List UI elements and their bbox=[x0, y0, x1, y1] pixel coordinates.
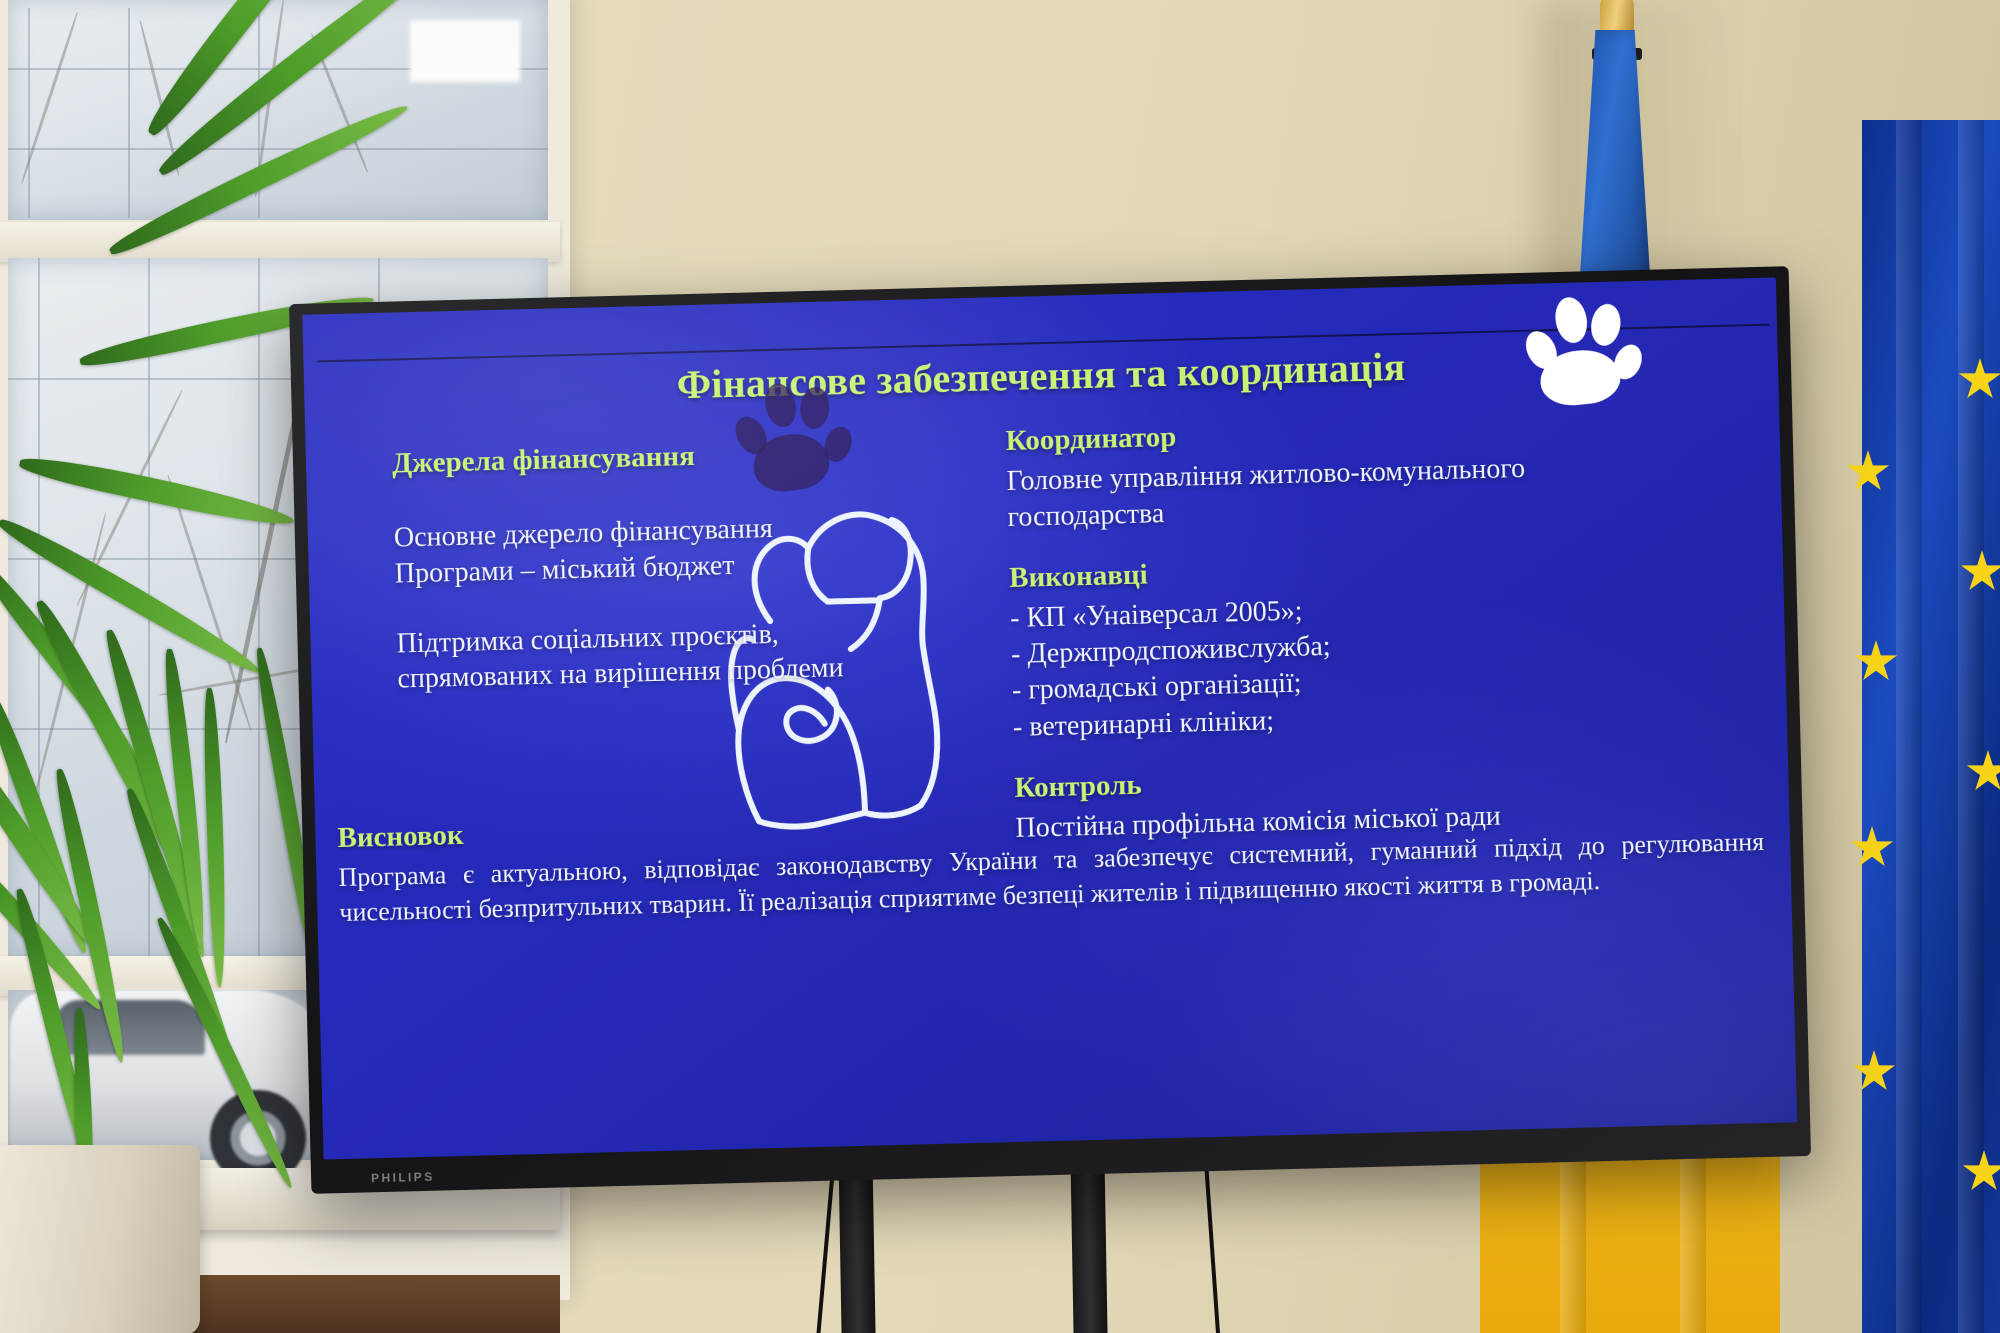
window-mullion bbox=[0, 222, 560, 262]
window-pane-top bbox=[8, 0, 548, 220]
paw-print-icon bbox=[1523, 292, 1637, 407]
tv-stand-leg-right bbox=[1070, 1150, 1107, 1333]
presentation-room-scene: Фінансове забезпечення та координація bbox=[0, 0, 2000, 1333]
funding-sources-paragraph-2: Підтримка соціальних проєктів, спрямован… bbox=[396, 614, 878, 698]
conclusion-section: Висновок Програма є актуальною, відповід… bbox=[337, 786, 1765, 930]
car-side-window bbox=[55, 1000, 205, 1055]
funding-sources-paragraph-1: Основне джерело фінансування Програми – … bbox=[393, 508, 875, 592]
brand-logo: PHILIPS bbox=[371, 1170, 435, 1186]
presentation-slide: Фінансове забезпечення та координація bbox=[302, 277, 1797, 1159]
tv-bezel: Фінансове забезпечення та координація bbox=[289, 266, 1811, 1194]
left-column: Джерела фінансування Основне джерело фін… bbox=[392, 435, 878, 697]
television: Фінансове забезпечення та координація bbox=[289, 266, 1811, 1194]
plant-pot bbox=[0, 1145, 200, 1333]
coordinator-heading: Координатор bbox=[1005, 411, 1566, 458]
tv-screen[interactable]: Фінансове забезпечення та координація bbox=[302, 277, 1797, 1159]
funding-sources-heading: Джерела фінансування bbox=[392, 435, 873, 480]
european-union-flag bbox=[1862, 120, 2000, 1333]
right-column: Координатор Головне управління житлово-к… bbox=[1005, 411, 1576, 847]
